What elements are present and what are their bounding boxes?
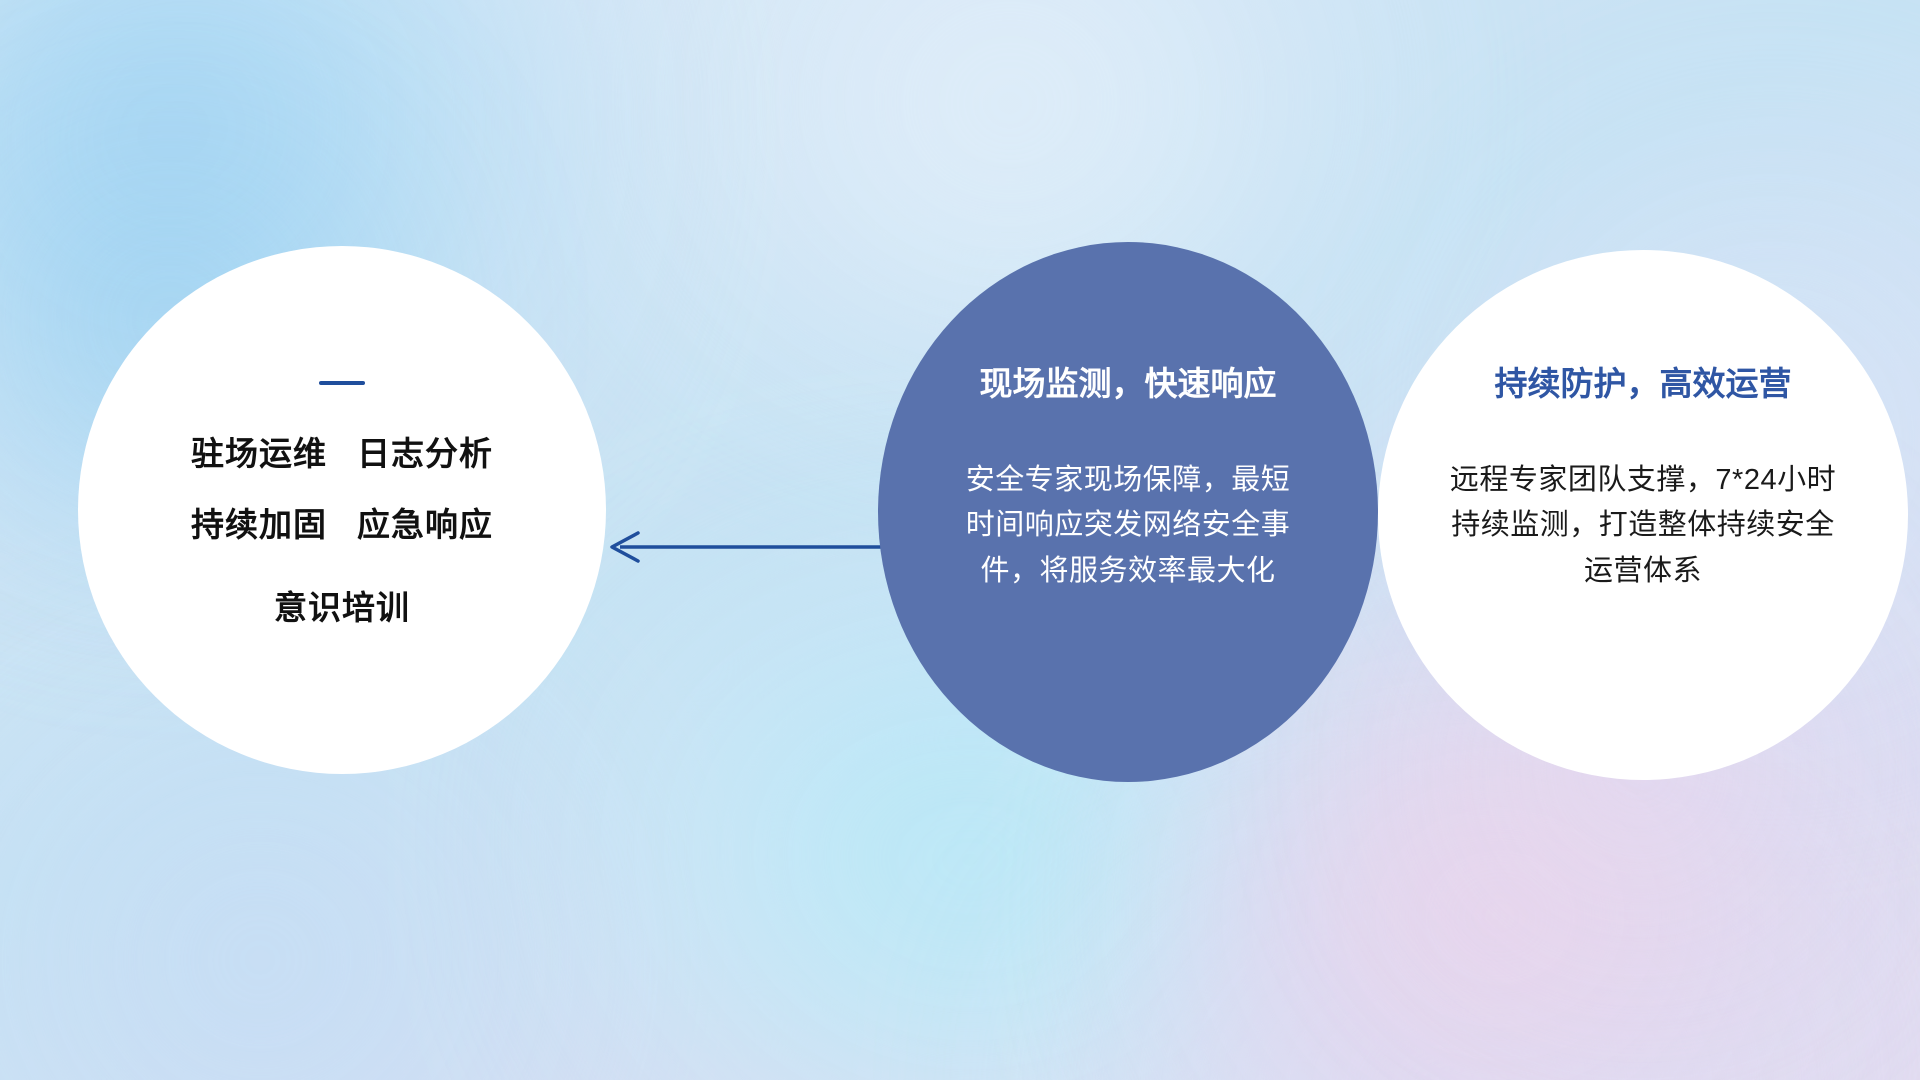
left-white-circle[interactable]: 驻场运维日志分析 持续加固应急响应 意识培训 [78, 246, 606, 774]
capability-label-onsite-ops: 驻场运维 [191, 435, 327, 472]
capability-label-continuous-hardening: 持续加固 [191, 506, 327, 543]
capability-label-emergency-response: 应急响应 [357, 506, 493, 543]
capability-row-1: 驻场运维日志分析 [191, 437, 493, 470]
center-circle-title: 现场监测，快速响应 [980, 364, 1277, 404]
capability-row-3: 意识培训 [274, 591, 410, 624]
flow-arrow-left-icon [590, 512, 910, 582]
center-blue-circle[interactable]: 现场监测，快速响应 安全专家现场保障，最短时间响应突发网络安全事件，将服务效率最… [878, 242, 1378, 782]
right-white-circle[interactable]: 持续防护，高效运营 远程专家团队支撑，7*24小时持续监测，打造整体持续安全运营… [1378, 250, 1908, 780]
divider-dash-icon [319, 381, 365, 385]
right-circle-title: 持续防护，高效运营 [1495, 364, 1792, 404]
diagram-stage: 现场监测，快速响应 安全专家现场保障，最短时间响应突发网络安全事件，将服务效率最… [0, 0, 1920, 1080]
capability-label-log-analysis: 日志分析 [357, 435, 493, 472]
capability-row-2: 持续加固应急响应 [191, 508, 493, 541]
capability-label-awareness-training: 意识培训 [274, 589, 410, 626]
center-circle-body: 安全专家现场保障，最短时间响应突发网络安全事件，将服务效率最大化 [958, 458, 1298, 595]
right-circle-body: 远程专家团队支撑，7*24小时持续监测，打造整体持续安全运营体系 [1438, 458, 1848, 595]
